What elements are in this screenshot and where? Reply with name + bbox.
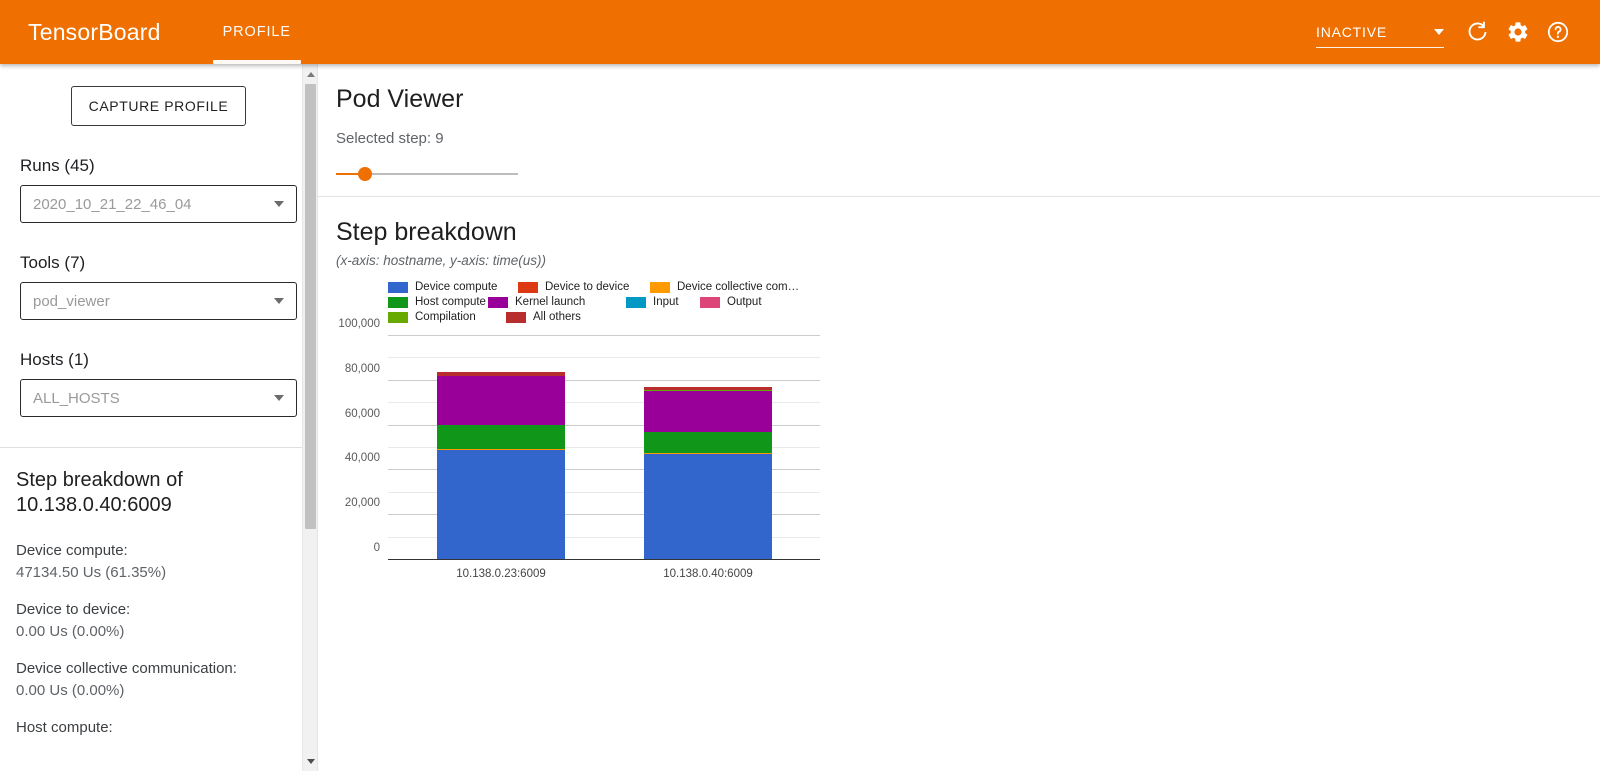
chevron-down-icon [274, 201, 284, 207]
bar-segment[interactable] [644, 454, 772, 559]
legend-item[interactable]: Kernel launch [488, 296, 585, 309]
gridline [388, 335, 820, 336]
main-content: Pod Viewer Selected step: 9 Step breakdo… [318, 64, 1600, 771]
selected-step-label: Selected step: 9 [336, 130, 1600, 147]
stat-device-to-device: Device to device: 0.00 Us (0.00%) [16, 599, 301, 643]
legend-item[interactable]: Output [700, 296, 762, 309]
x-axis-tick-label: 10.138.0.40:6009 [663, 568, 753, 580]
y-axis-tick-label: 40,000 [345, 452, 380, 464]
legend-label: Input [653, 296, 679, 309]
chart-subtitle: (x-axis: hostname, y-axis: time(us)) [336, 253, 1600, 268]
bar-segment[interactable] [437, 450, 565, 559]
bar-segment[interactable] [644, 391, 772, 432]
stat-key: Device to device: [16, 599, 301, 621]
legend-swatch [388, 297, 408, 308]
legend-label: Kernel launch [515, 296, 585, 309]
chart-bar[interactable] [437, 372, 565, 559]
legend-item[interactable]: Input [626, 296, 679, 309]
page-title: Pod Viewer [336, 82, 1600, 116]
stat-key: Device collective communication: [16, 658, 301, 680]
stat-value: 0.00 Us (0.00%) [16, 621, 301, 643]
settings-button[interactable] [1498, 12, 1538, 52]
left-sidebar: CAPTURE PROFILE Runs (45) 2020_10_21_22_… [0, 64, 318, 771]
legend-label: Device collective com… [677, 281, 799, 294]
hosts-selected-value: ALL_HOSTS [33, 390, 120, 407]
y-axis-tick-label: 80,000 [345, 363, 380, 375]
stat-key: Host compute: [16, 717, 301, 739]
chart-title: Step breakdown [336, 217, 1600, 247]
legend-label: Compilation [415, 311, 476, 324]
runs-select[interactable]: 2020_10_21_22_46_04 [20, 185, 297, 223]
chart-legend: Device computeDevice to deviceDevice col… [388, 280, 828, 325]
stat-key: Device compute: [16, 540, 301, 562]
legend-item[interactable]: Device compute [388, 281, 497, 294]
run-status-select[interactable]: INACTIVE [1316, 17, 1444, 48]
help-icon [1546, 20, 1570, 44]
legend-swatch [700, 297, 720, 308]
stat-host-compute: Host compute: [16, 717, 301, 739]
stat-value: 0.00 Us (0.00%) [16, 680, 301, 702]
step-breakdown-stats: Step breakdown of 10.138.0.40:6009 Devic… [0, 448, 317, 739]
legend-swatch [388, 312, 408, 323]
legend-label: Output [727, 296, 762, 309]
sidebar-selectors: Runs (45) 2020_10_21_22_46_04 Tools (7) … [0, 156, 317, 417]
help-button[interactable] [1538, 12, 1578, 52]
app-body: CAPTURE PROFILE Runs (45) 2020_10_21_22_… [0, 64, 1600, 771]
sidebar-scrollbar[interactable] [302, 64, 317, 771]
chart-legend-row: Host computeKernel launchInputOutput [388, 295, 828, 310]
pod-viewer-header: Pod Viewer Selected step: 9 [318, 64, 1600, 197]
tab-profile-label: PROFILE [223, 24, 291, 40]
tools-label: Tools (7) [20, 253, 297, 273]
step-breakdown-panel: Step breakdown (x-axis: hostname, y-axis… [318, 197, 1600, 580]
legend-item[interactable]: Device to device [518, 281, 629, 294]
scroll-down-arrow-icon[interactable] [303, 753, 318, 769]
y-axis-tick-label: 0 [374, 542, 380, 554]
legend-swatch [506, 312, 526, 323]
x-axis-tick-label: 10.138.0.23:6009 [456, 568, 546, 580]
chevron-down-icon [1434, 29, 1444, 35]
stat-device-compute: Device compute: 47134.50 Us (61.35%) [16, 540, 301, 584]
capture-profile-button[interactable]: CAPTURE PROFILE [71, 86, 247, 126]
legend-swatch [488, 297, 508, 308]
legend-label: Device to device [545, 281, 629, 294]
gridline-minor [388, 357, 820, 358]
bar-segment[interactable] [437, 425, 565, 449]
legend-label: Device compute [415, 281, 497, 294]
stat-device-collective-communication: Device collective communication: 0.00 Us… [16, 658, 301, 702]
tab-profile[interactable]: PROFILE [205, 0, 309, 64]
bar-segment[interactable] [437, 376, 565, 425]
legend-swatch [650, 282, 670, 293]
run-status-value: INACTIVE [1316, 24, 1387, 40]
step-breakdown-chart: Device computeDevice to deviceDevice col… [336, 280, 836, 580]
scroll-up-arrow-icon[interactable] [303, 66, 318, 82]
step-slider[interactable] [336, 167, 518, 181]
chart-legend-row: Device computeDevice to deviceDevice col… [388, 280, 828, 295]
legend-swatch [626, 297, 646, 308]
hosts-select[interactable]: ALL_HOSTS [20, 379, 297, 417]
bar-segment[interactable] [644, 432, 772, 453]
hosts-label: Hosts (1) [20, 350, 297, 370]
y-axis-tick-label: 100,000 [338, 318, 380, 330]
app-brand: TensorBoard [28, 19, 161, 46]
sidebar-scrollbar-thumb[interactable] [305, 84, 316, 529]
legend-item[interactable]: Compilation [388, 311, 476, 324]
y-axis-tick-label: 60,000 [345, 408, 380, 420]
nav-tabs: PROFILE [205, 0, 309, 64]
runs-selected-value: 2020_10_21_22_46_04 [33, 196, 192, 213]
chart-legend-row: CompilationAll others [388, 310, 828, 325]
stat-value: 47134.50 Us (61.35%) [16, 562, 301, 584]
legend-swatch [388, 282, 408, 293]
sidebar-content: CAPTURE PROFILE Runs (45) 2020_10_21_22_… [0, 64, 317, 739]
capture-profile-row: CAPTURE PROFILE [0, 64, 317, 126]
runs-label: Runs (45) [20, 156, 297, 176]
refresh-icon [1466, 20, 1490, 44]
refresh-button[interactable] [1458, 12, 1498, 52]
legend-label: Host compute [415, 296, 486, 309]
legend-item[interactable]: Host compute [388, 296, 486, 309]
legend-item[interactable]: All others [506, 311, 581, 324]
tools-selected-value: pod_viewer [33, 293, 110, 310]
chart-bar[interactable] [644, 387, 772, 559]
tensorboard-profile-page: TensorBoard PROFILE INACTIVE [0, 0, 1600, 771]
step-slider-thumb[interactable] [358, 167, 372, 181]
legend-item[interactable]: Device collective com… [650, 281, 799, 294]
chevron-down-icon [274, 298, 284, 304]
stats-title: Step breakdown of 10.138.0.40:6009 [16, 468, 301, 518]
x-axis-line [388, 559, 820, 560]
chevron-down-icon [274, 395, 284, 401]
chart-plot-area: 020,00040,00060,00080,000100,00010.138.0… [388, 336, 820, 560]
legend-swatch [518, 282, 538, 293]
tools-select[interactable]: pod_viewer [20, 282, 297, 320]
y-axis-tick-label: 20,000 [345, 497, 380, 509]
legend-label: All others [533, 311, 581, 324]
top-app-bar: TensorBoard PROFILE INACTIVE [0, 0, 1600, 64]
gear-icon [1506, 20, 1530, 44]
top-bar-actions: INACTIVE [1316, 12, 1578, 52]
